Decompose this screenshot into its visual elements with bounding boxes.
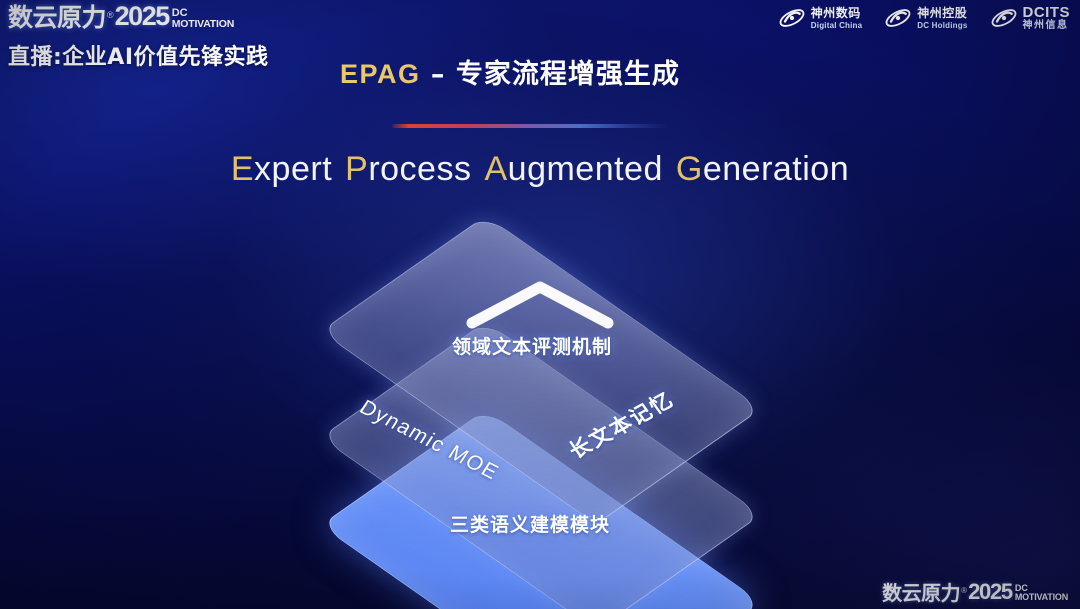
brand-top-left: 数云原力 ® 2025 DC MOTIVATION 直播:企业AI价值先锋实践: [8, 3, 308, 71]
subtitle-word-expert: Expert: [231, 150, 332, 188]
partner-label: 神州数码 Digital China: [811, 7, 863, 30]
stack-layer-bottom-label: 三类语义建模模块: [450, 510, 610, 537]
partner-name-en: DC Holdings: [917, 21, 967, 30]
watermark-motivation: MOTIVATION: [1015, 593, 1068, 602]
brand-motivation: MOTIVATION: [172, 19, 234, 30]
headline-acronym: EPAG: [340, 59, 421, 89]
subtitle-word-process: Process: [345, 150, 471, 188]
partner-name-en: Digital China: [811, 21, 863, 30]
watermark-dc-motivation: DC MOTIVATION: [1015, 584, 1068, 603]
partner-name-cn: 神州控股: [917, 7, 967, 21]
swirl-logo-icon: [778, 6, 806, 30]
livestream-title: 直播:企业AI价值先锋实践: [8, 39, 308, 71]
subtitle-word-generation: Generation: [676, 150, 849, 188]
subtitle-rest: ugmented: [508, 150, 663, 188]
subtitle-cap: E: [231, 150, 254, 188]
partner-name-en: DCITS: [1023, 5, 1071, 20]
partner-name-cn: 神州信息: [1023, 20, 1071, 32]
partner-dcits: DCITS 神州信息: [990, 5, 1071, 32]
partner-logo-bar: 神州数码 Digital China 神州控股 DC Holdings: [778, 5, 1070, 32]
watermark-name-cn: 数云原力: [882, 583, 960, 603]
watermark-brand: 数云原力 ® 2025 DC MOTIVATION: [882, 581, 1068, 603]
headline-separator: –: [421, 59, 456, 90]
subtitle-expansion: ExpertProcessAugmentedGeneration: [0, 150, 1080, 189]
subtitle-rest: rocess: [368, 150, 471, 188]
partner-dc-holdings: 神州控股 DC Holdings: [884, 6, 967, 30]
headline-chinese: 专家流程增强生成: [456, 59, 680, 90]
partner-label: 神州控股 DC Holdings: [917, 7, 967, 30]
brand-dc-motivation: DC MOTIVATION: [172, 8, 234, 31]
subtitle-rest: xpert: [254, 150, 332, 188]
partner-digital-china: 神州数码 Digital China: [778, 6, 863, 30]
watermark-year: 2025: [968, 581, 1012, 603]
partner-name-cn: 神州数码: [811, 7, 863, 21]
partner-label: DCITS 神州信息: [1023, 5, 1071, 32]
isometric-layer-stack: 领域文本评测机制 Dynamic MOE 长文本记忆 三类语义建模模块: [300, 222, 780, 567]
subtitle-rest: eneration: [703, 150, 849, 188]
stack-layer-top-label: 领域文本评测机制: [452, 332, 612, 359]
brand-logo: 数云原力 ® 2025 DC MOTIVATION: [8, 3, 308, 30]
subtitle-word-augmented: Augmented: [484, 150, 662, 188]
brand-year: 2025: [115, 3, 169, 30]
registered-mark-icon: ®: [961, 587, 967, 595]
brand-name-cn: 数云原力: [8, 5, 106, 30]
subtitle-cap: A: [484, 150, 507, 188]
swirl-logo-icon: [884, 6, 912, 30]
slide-canvas: 数云原力 ® 2025 DC MOTIVATION 直播:企业AI价值先锋实践 …: [0, 0, 1080, 609]
subtitle-cap: G: [676, 150, 703, 188]
headline: EPAG – 专家流程增强生成: [340, 52, 680, 91]
swirl-logo-icon: [990, 6, 1018, 30]
registered-mark-icon: ®: [107, 11, 114, 20]
subtitle-cap: P: [345, 150, 368, 188]
brand-dc: DC: [172, 8, 234, 19]
gradient-divider: [392, 124, 668, 128]
